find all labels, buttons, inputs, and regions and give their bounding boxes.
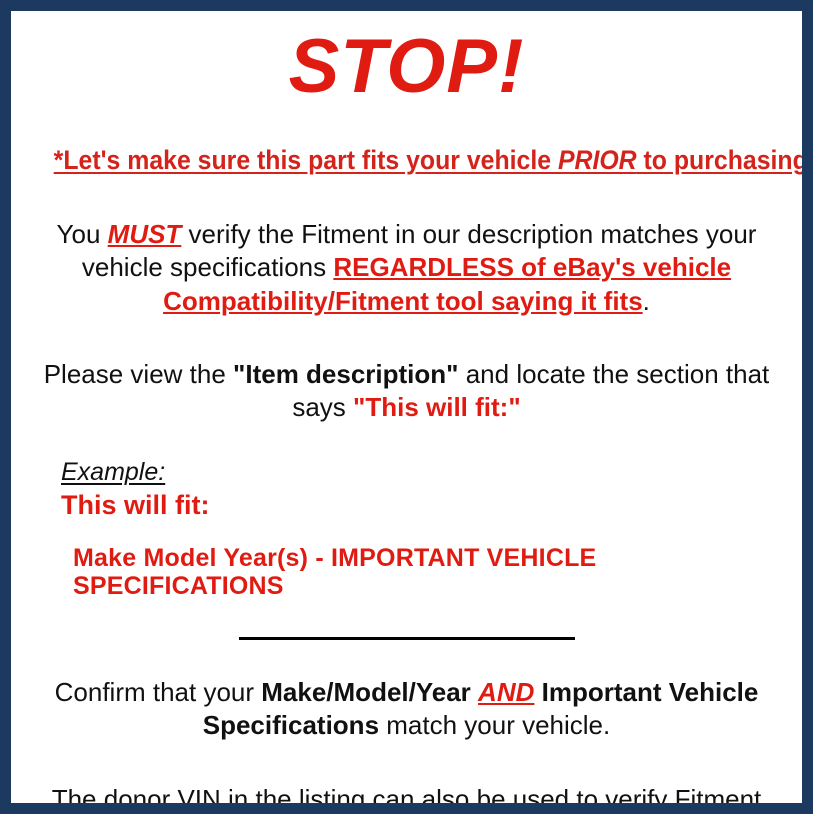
tagline: *Let's make sure this part fits your veh… — [54, 145, 760, 176]
must-text-3: . — [643, 286, 650, 316]
confirm-text-1: Confirm that your — [55, 677, 262, 707]
confirm-text-2: match your vehicle. — [379, 710, 610, 740]
notice-content: STOP! *Let's make sure this part fits yo… — [11, 29, 802, 814]
emphasis-make-model-year: Make/Model/Year — [261, 677, 471, 707]
horizontal-divider — [239, 637, 575, 640]
emphasis-this-will-fit: "This will fit:" — [353, 392, 521, 422]
emphasis-item-description: "Item description" — [233, 359, 458, 389]
page-title: STOP! — [23, 29, 790, 109]
tagline-before: *Let's make sure this part fits your veh… — [54, 145, 558, 175]
confirm-space-1 — [471, 677, 478, 707]
tagline-after: to purchasing* — [637, 145, 813, 175]
example-block: Example: This will fit: Make Model Year(… — [23, 458, 790, 600]
confirm-space-2 — [534, 677, 541, 707]
paragraph-donor-vin: The donor VIN in the listing can also be… — [23, 783, 790, 814]
fitment-notice-card: STOP! *Let's make sure this part fits yo… — [0, 0, 813, 814]
example-spec-line: Make Model Year(s) - IMPORTANT VEHICLE S… — [73, 545, 790, 600]
tagline-emphasis-prior: PRIOR — [558, 145, 637, 175]
example-label: Example: — [61, 458, 165, 487]
example-fit-heading: This will fit: — [61, 491, 790, 521]
paragraph-must-verify: You MUST verify the Fitment in our descr… — [23, 218, 790, 318]
paragraph-confirm: Confirm that your Make/Model/Year AND Im… — [23, 676, 790, 743]
must-text-1: You — [57, 219, 108, 249]
emphasis-and: AND — [478, 677, 534, 707]
view-text-1: Please view the — [44, 359, 233, 389]
emphasis-must: MUST — [108, 219, 182, 249]
paragraph-view-description: Please view the "Item description" and l… — [23, 358, 790, 425]
divider-wrapper — [23, 630, 790, 648]
